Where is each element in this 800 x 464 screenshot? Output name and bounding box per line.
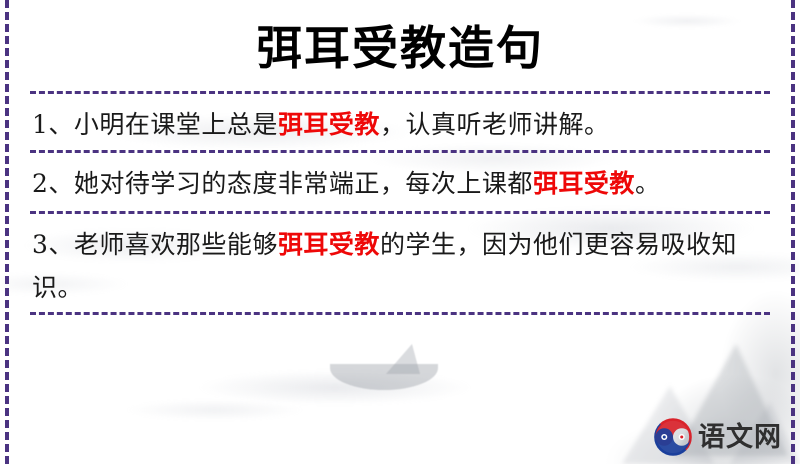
divider-rule-4 xyxy=(30,312,770,315)
sentence-3-idiom: 弭耳受教 xyxy=(278,230,380,259)
example-sentence-1: 1、小明在课堂上总是弭耳受教，认真听老师讲解。 xyxy=(22,94,778,150)
sentence-3-before: 老师喜欢那些能够 xyxy=(74,230,278,259)
example-sentence-3: 3、老师喜欢那些能够弭耳受教的学生，因为他们更容易吸收知识。 xyxy=(22,214,778,312)
sentence-1-after: ，认真听老师讲解。 xyxy=(380,110,610,139)
brand-name: 语文网 xyxy=(698,424,782,451)
sentence-2-index: 2、 xyxy=(32,169,74,198)
sentence-1-index: 1、 xyxy=(32,110,74,139)
sentence-2-after: 。 xyxy=(635,169,661,198)
sentence-1-idiom: 弭耳受教 xyxy=(278,110,380,139)
slide-content: 弭耳受教造句 1、小明在课堂上总是弭耳受教，认真听老师讲解。 2、她对待学习的态… xyxy=(0,0,800,464)
sentence-1-before: 小明在课堂上总是 xyxy=(74,110,278,139)
site-watermark: 语文网 xyxy=(654,418,782,456)
sentence-3-index: 3、 xyxy=(32,230,74,259)
example-sentence-2: 2、她对待学习的态度非常端正，每次上课都弭耳受教。 xyxy=(22,153,778,211)
yinyang-circle-icon xyxy=(654,418,692,456)
sentence-2-idiom: 弭耳受教 xyxy=(533,169,635,198)
sentence-2-before: 她对待学习的态度非常端正，每次上课都 xyxy=(74,169,533,198)
page-title: 弭耳受教造句 xyxy=(22,0,778,75)
slide-page: 弭耳受教造句 1、小明在课堂上总是弭耳受教，认真听老师讲解。 2、她对待学习的态… xyxy=(0,0,800,464)
